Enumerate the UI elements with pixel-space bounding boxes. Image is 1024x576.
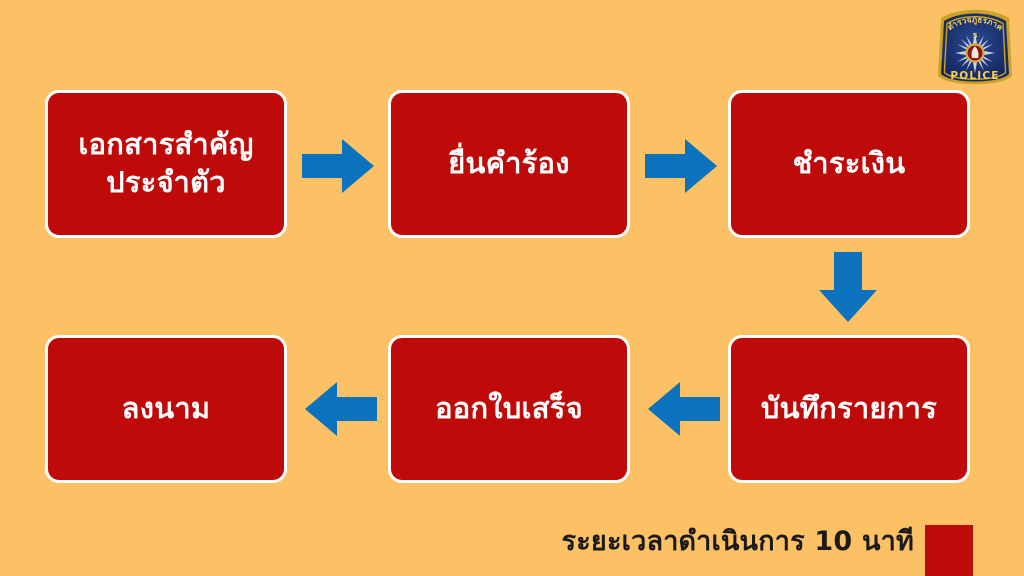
flow-step-issue-receipt[interactable]: ออกใบเสร็จ xyxy=(388,335,630,483)
badge-starburst xyxy=(955,33,995,73)
badge-bottom-text: POLICE xyxy=(950,70,999,82)
flow-step-submit-request[interactable]: ยื่นคำร้อง xyxy=(388,90,630,238)
flow-step-signature[interactable]: ลงนาม xyxy=(45,335,287,483)
flow-step-record-entry[interactable]: บันทึกรายการ xyxy=(728,335,970,483)
arrow-left-icon xyxy=(305,382,377,436)
flow-step-payment[interactable]: ชำระเงิน xyxy=(728,90,970,238)
processing-time-note: ระยะเวลาดำเนินการ 10 นาที xyxy=(562,519,914,562)
arrow-down-icon xyxy=(819,252,877,322)
arrow-left-icon xyxy=(648,382,720,436)
slide-canvas: ตำรวจภูธรภาค 5 xyxy=(0,0,1024,576)
flow-step-documents[interactable]: เอกสารสำคัญ ประจำตัว xyxy=(45,90,287,238)
arrow-right-icon xyxy=(302,139,374,193)
police-badge-logo: ตำรวจภูธรภาค 5 xyxy=(931,2,1019,94)
footer-color-swatch xyxy=(925,525,973,576)
arrow-right-icon xyxy=(645,139,717,193)
